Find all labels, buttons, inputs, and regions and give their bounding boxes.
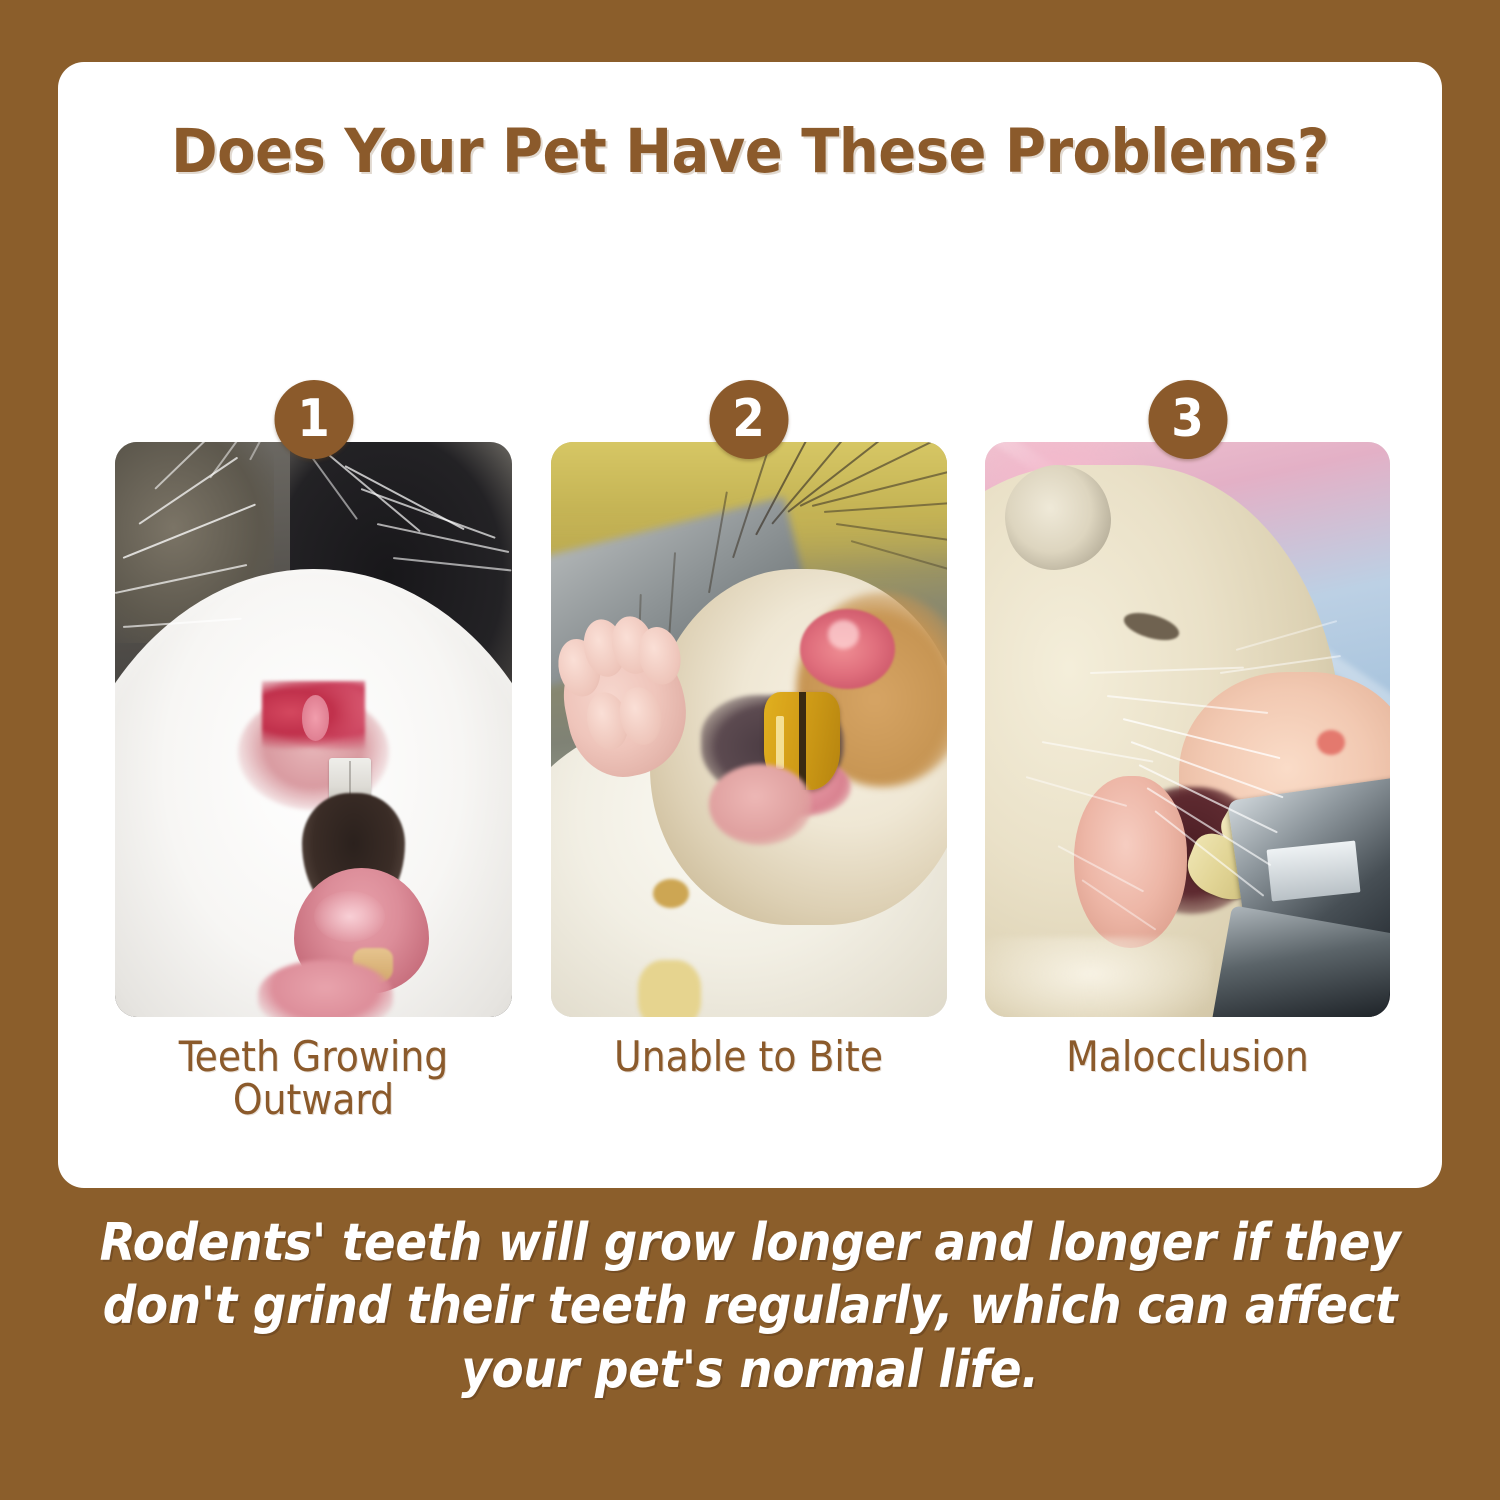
problem-card-3: 3 Malocclusion (985, 380, 1390, 1020)
problem-photo-3 (985, 442, 1390, 1017)
page-title: Does Your Pet Have These Problems? (44, 116, 1456, 187)
problem-caption-1: Teeth Growing Outward (95, 1035, 532, 1122)
problem-photo-2 (551, 442, 947, 1017)
problems-row: 1 Teeth Growing Outward 2 (115, 380, 1390, 1020)
problem-caption-2: Unable to Bite (531, 1035, 967, 1078)
step-number-badge-2: 2 (709, 380, 788, 459)
footer-text: Rodents' teeth will grow longer and long… (0, 1212, 1500, 1402)
problem-card-1: 1 Teeth Growing Outward (115, 380, 512, 1020)
problem-caption-3: Malocclusion (965, 1035, 1410, 1078)
step-number-badge-1: 1 (274, 380, 353, 459)
problem-card-2: 2 Unable to Bite (551, 380, 947, 1020)
content-card: Does Your Pet Have These Problems? 1 (58, 62, 1442, 1188)
problem-photo-1 (115, 442, 512, 1017)
step-number-badge-3: 3 (1148, 380, 1227, 459)
